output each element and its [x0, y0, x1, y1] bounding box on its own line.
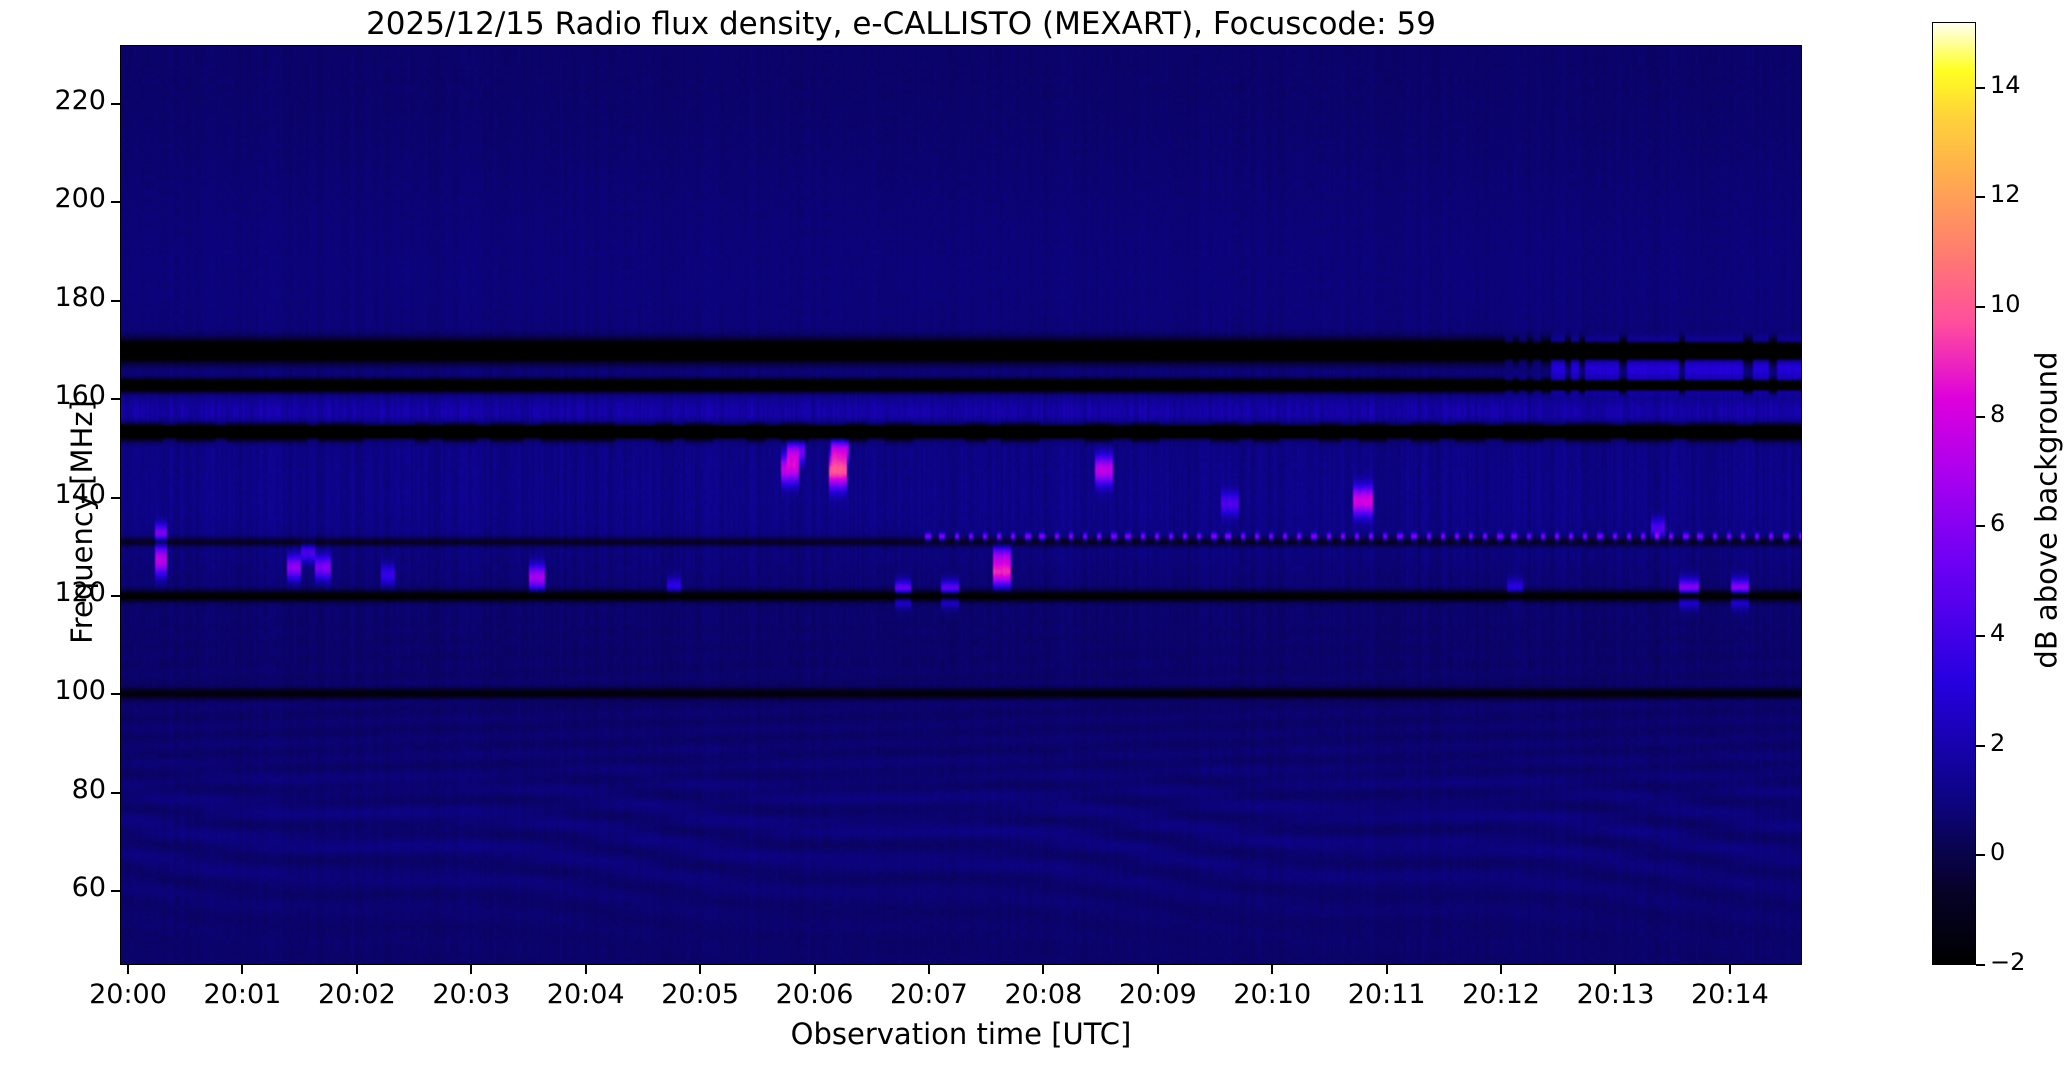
x-tick-mark: [356, 965, 358, 974]
colorbar-tick-label: 0: [1990, 838, 2005, 866]
x-tick-mark: [585, 965, 587, 974]
x-tick-label: 20:03: [432, 979, 510, 1010]
x-tick-label: 20:01: [204, 979, 282, 1010]
x-tick-label: 20:07: [890, 979, 968, 1010]
colorbar[interactable]: [1932, 22, 1976, 965]
x-tick-mark: [699, 965, 701, 974]
colorbar-tick-mark: [1976, 525, 1985, 527]
colorbar-tick-label: 8: [1990, 400, 2005, 428]
x-tick-label: 20:08: [1004, 979, 1082, 1010]
colorbar-tick-mark: [1976, 635, 1985, 637]
x-tick-label: 20:11: [1348, 979, 1426, 1010]
y-tick-mark: [111, 693, 120, 695]
x-tick-mark: [127, 965, 129, 974]
colorbar-label: dB above background: [2030, 39, 2064, 982]
x-tick-label: 20:00: [89, 979, 167, 1010]
x-tick-mark: [814, 965, 816, 974]
y-tick-mark: [111, 201, 120, 203]
colorbar-tick-mark: [1976, 196, 1985, 198]
x-tick-label: 20:05: [661, 979, 739, 1010]
colorbar-tick-mark: [1976, 854, 1985, 856]
x-tick-label: 20:12: [1462, 979, 1540, 1010]
y-tick-mark: [111, 595, 120, 597]
x-tick-label: 20:02: [318, 979, 396, 1010]
colorbar-gradient: [1933, 23, 1975, 964]
colorbar-tick-mark: [1976, 87, 1985, 89]
x-axis-ticks: 20:0020:0120:0220:0320:0420:0520:0620:07…: [120, 965, 1802, 1025]
x-tick-mark: [1157, 965, 1159, 974]
x-tick-mark: [928, 965, 930, 974]
colorbar-tick-mark: [1976, 964, 1985, 966]
y-axis-label-wrap: Frequency [MHz]: [14, 45, 54, 965]
spectrogram-plot-area[interactable]: [120, 45, 1802, 965]
colorbar-tick-label: 6: [1990, 509, 2005, 537]
colorbar-tick-label: 4: [1990, 619, 2005, 647]
figure-root: 2025/12/15 Radio flux density, e-CALLIST…: [0, 0, 2066, 1067]
x-tick-mark: [1042, 965, 1044, 974]
colorbar-label-wrap: dB above background: [2026, 22, 2066, 965]
figure-title: 2025/12/15 Radio flux density, e-CALLIST…: [0, 6, 1802, 42]
x-tick-mark: [1729, 965, 1731, 974]
y-tick-mark: [111, 398, 120, 400]
colorbar-tick-label: 2: [1990, 729, 2005, 757]
x-tick-mark: [1614, 965, 1616, 974]
y-tick-mark: [111, 792, 120, 794]
x-tick-mark: [1500, 965, 1502, 974]
x-tick-label: 20:09: [1119, 979, 1197, 1010]
colorbar-tick-label: 10: [1990, 290, 2021, 318]
colorbar-tick-label: −2: [1990, 948, 2025, 976]
x-tick-label: 20:14: [1691, 979, 1769, 1010]
y-tick-mark: [111, 300, 120, 302]
y-tick-mark: [111, 103, 120, 105]
colorbar-tick-label: 12: [1990, 180, 2021, 208]
y-tick-mark: [111, 497, 120, 499]
x-tick-mark: [241, 965, 243, 974]
y-tick-mark: [111, 890, 120, 892]
colorbar-tick-mark: [1976, 306, 1985, 308]
colorbar-tick-label: 14: [1990, 71, 2021, 99]
spectrogram-image: [121, 46, 1802, 965]
x-axis-label: Observation time [UTC]: [120, 1017, 1802, 1051]
x-tick-label: 20:10: [1233, 979, 1311, 1010]
x-tick-mark: [1271, 965, 1273, 974]
y-axis-label: Frequency [MHz]: [65, 62, 99, 982]
x-tick-label: 20:13: [1577, 979, 1655, 1010]
x-tick-mark: [470, 965, 472, 974]
colorbar-tick-mark: [1976, 416, 1985, 418]
x-tick-label: 20:04: [547, 979, 625, 1010]
x-tick-mark: [1386, 965, 1388, 974]
colorbar-tick-mark: [1976, 745, 1985, 747]
x-tick-label: 20:06: [776, 979, 854, 1010]
